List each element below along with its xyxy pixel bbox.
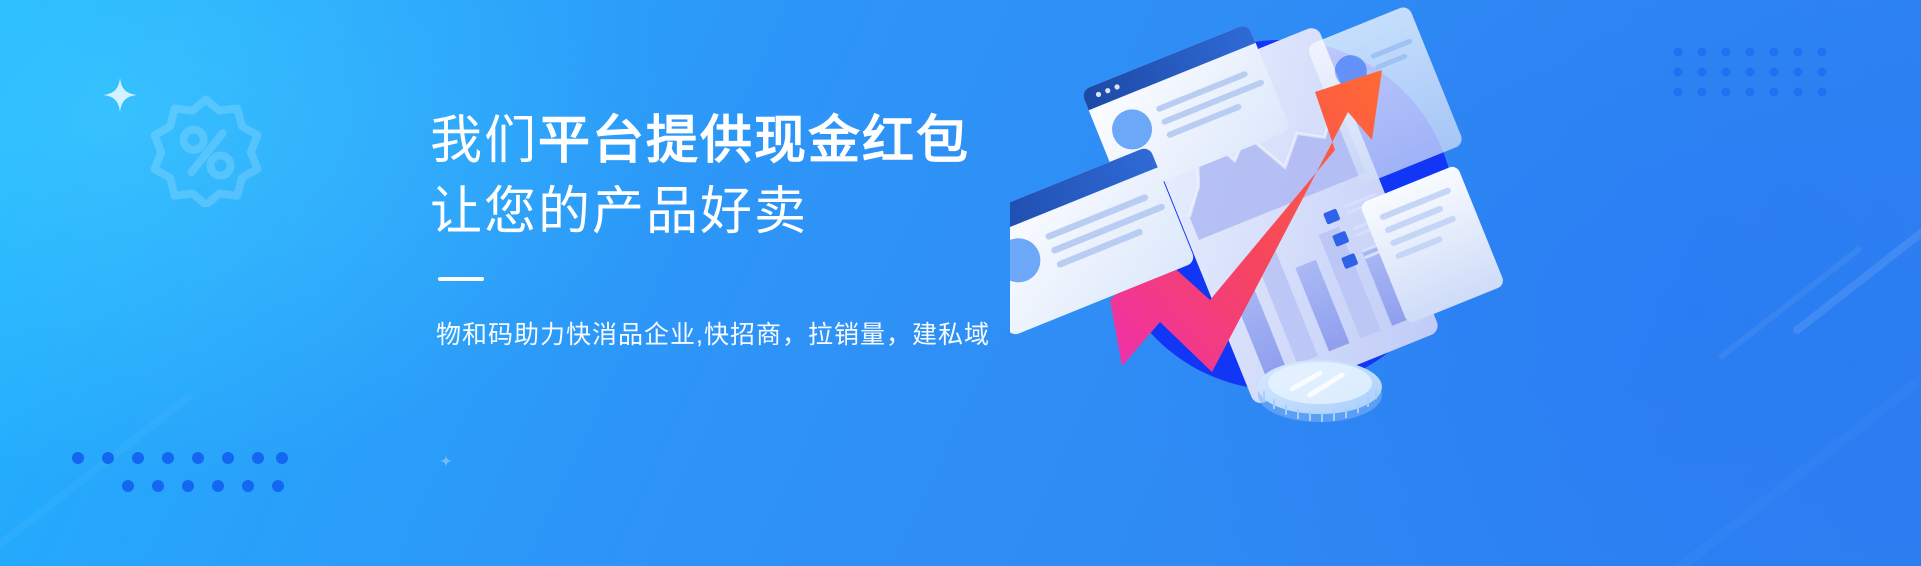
dot-grid [1672, 46, 1832, 106]
sparkle-icon [440, 455, 452, 467]
light-streak [1791, 132, 1921, 335]
growth-dashboard-illustration [1010, 0, 1510, 566]
divider [438, 277, 484, 281]
banner-copy: 我们平台提供现金红包 让您的产品好卖 物和码助力快消品企业,快招商，拉销量，建私… [430, 108, 1070, 351]
headline-bold-part: 平台提供现金红包 [538, 112, 970, 170]
headline-line-2: 让您的产品好卖 [430, 179, 1070, 246]
banner-subtitle: 物和码助力快消品企业,快招商，拉销量，建私域 [436, 315, 1070, 351]
percent-badge-icon [150, 95, 262, 207]
promo-banner: 我们平台提供现金红包 让您的产品好卖 物和码助力快消品企业,快招商，拉销量，建私… [0, 0, 1921, 566]
sparkle-icon [103, 78, 137, 112]
light-streak [1717, 245, 1863, 361]
light-streak [1591, 372, 1921, 566]
headline-light-part: 我们 [430, 112, 538, 170]
coin-icon [1258, 360, 1382, 422]
headline-line-1: 我们平台提供现金红包 [430, 108, 1070, 175]
dot-grid [70, 448, 290, 518]
